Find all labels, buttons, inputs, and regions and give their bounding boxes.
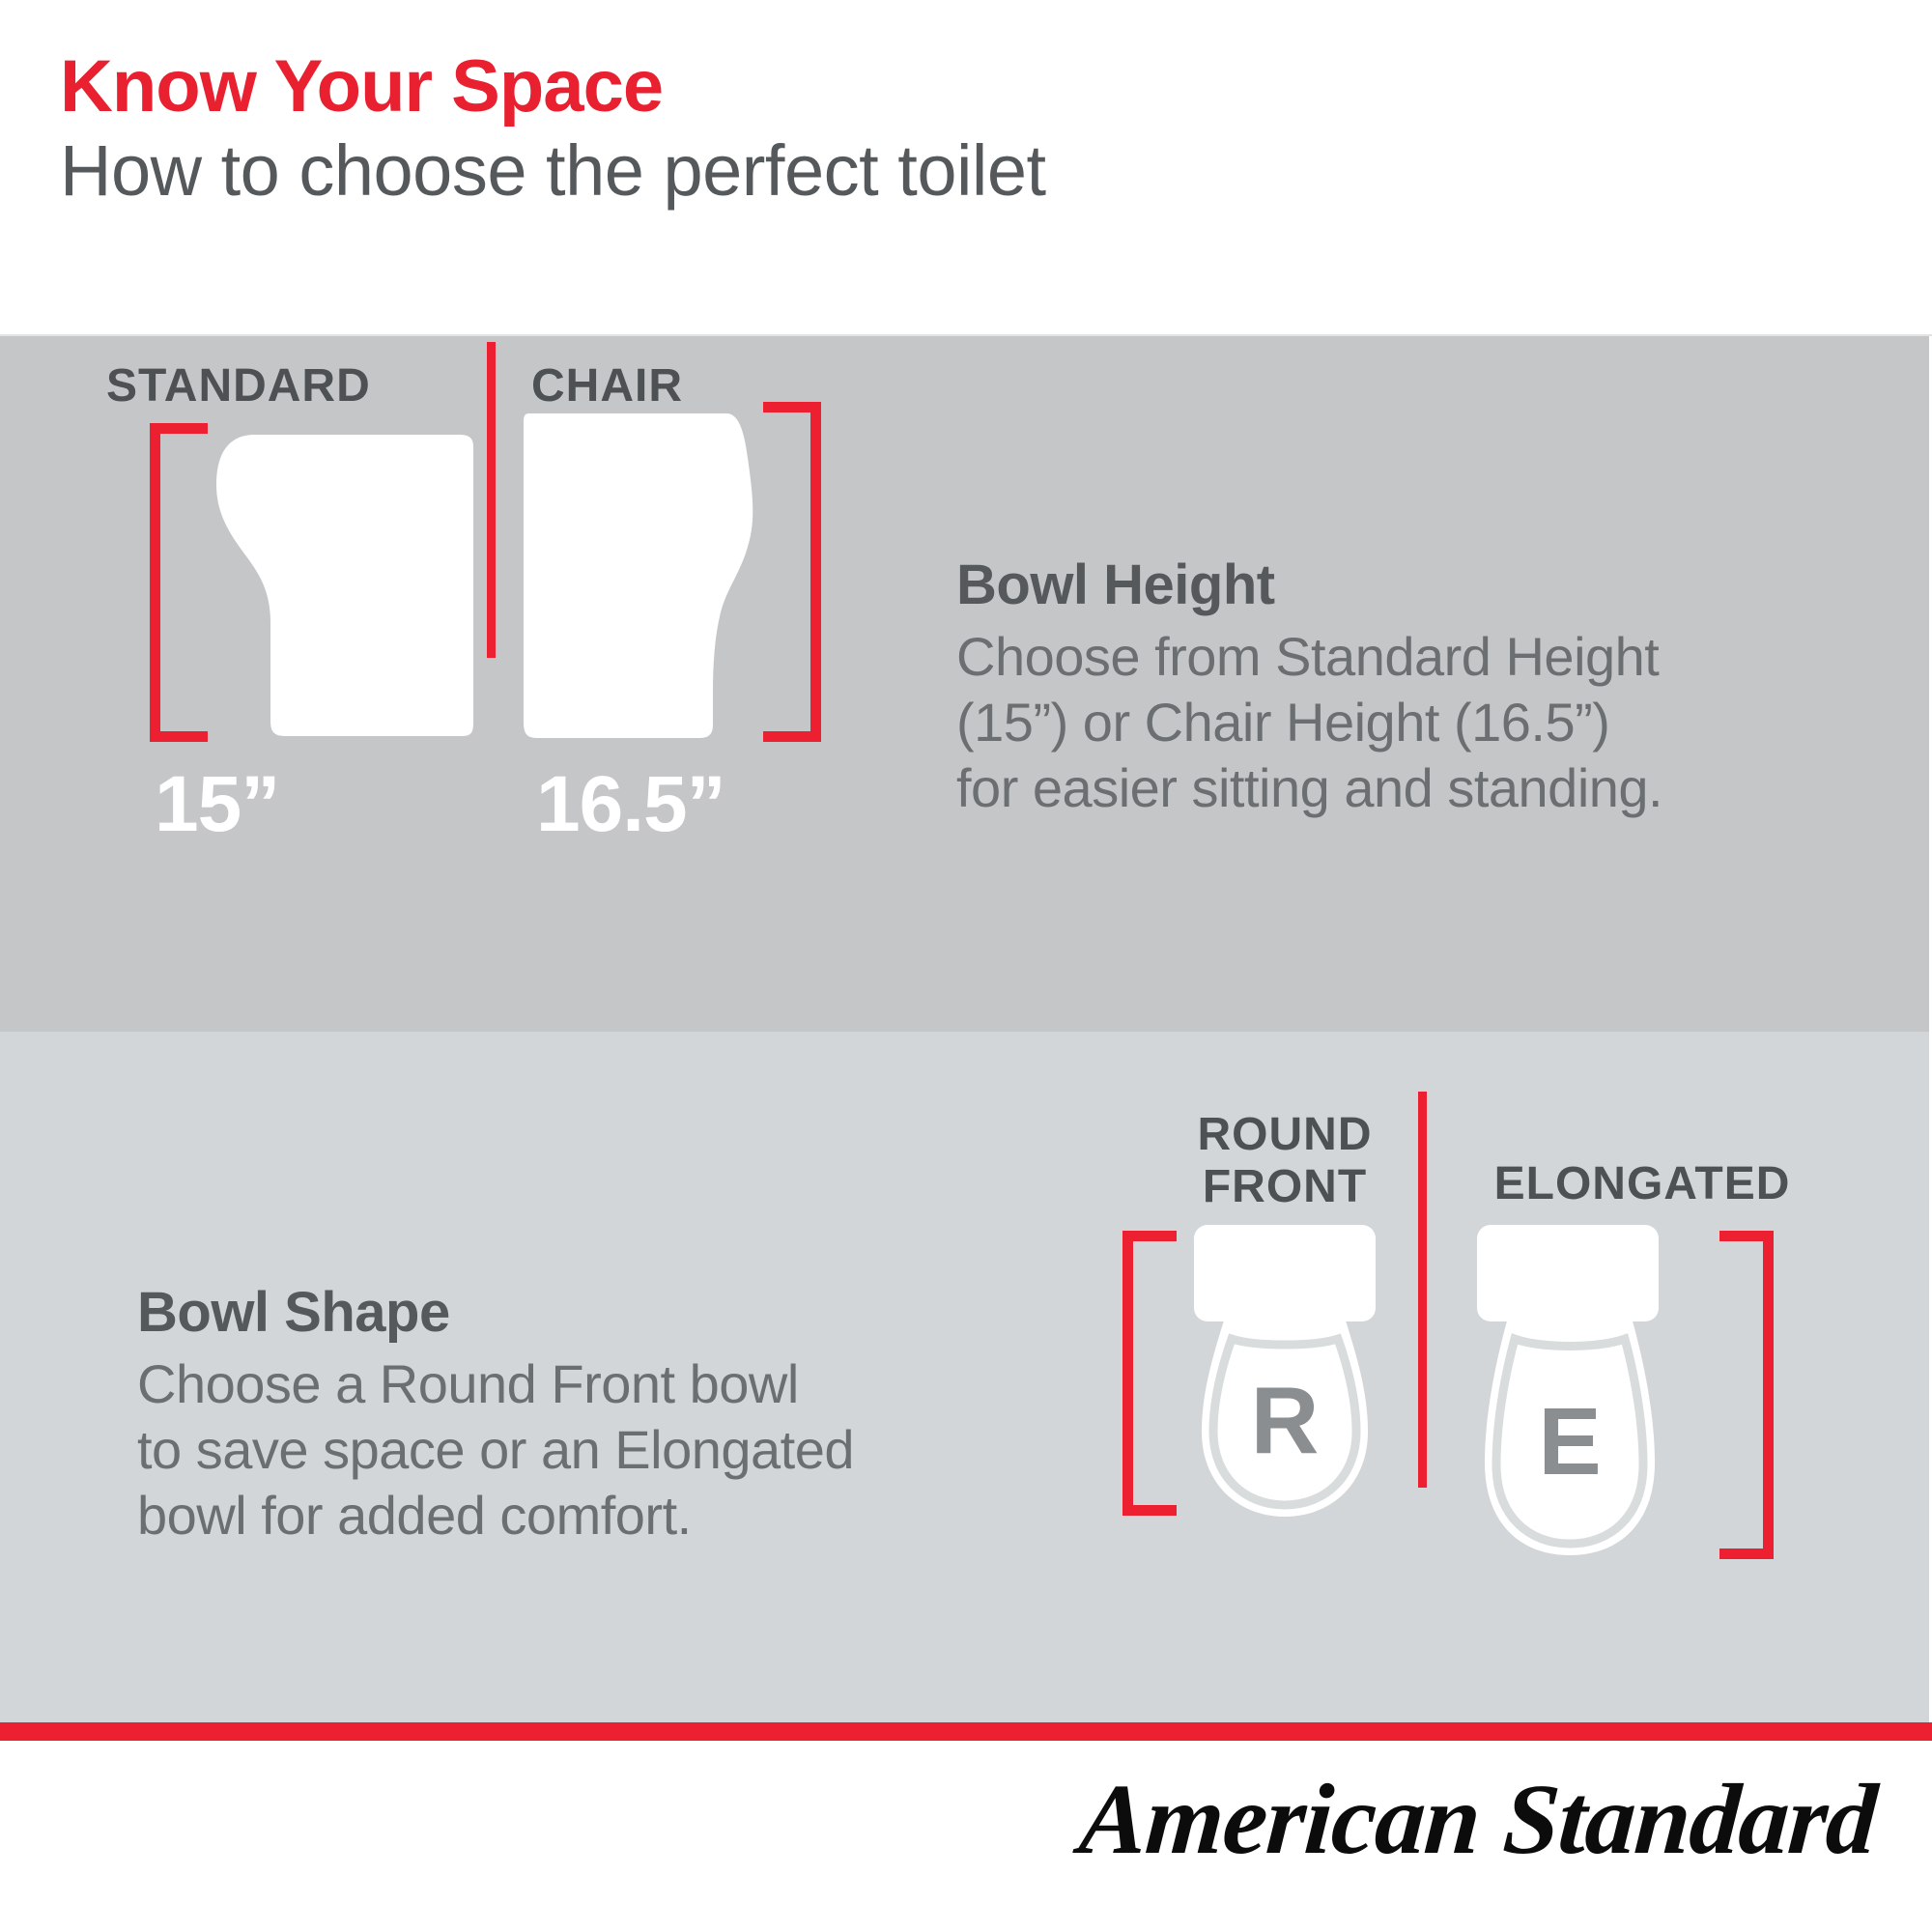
- bowl-height-heading: Bowl Height: [956, 554, 1826, 618]
- round-front-label-line-1: ROUND: [1174, 1109, 1396, 1161]
- chair-height-bracket-icon: [763, 402, 821, 742]
- bowl-shape-line-1: Choose a Round Front bowl: [137, 1351, 1007, 1417]
- chair-height-value: 16.5”: [536, 759, 725, 850]
- vertical-divider-icon: [487, 342, 496, 658]
- bowl-height-line-2: (15”) or Chair Height (16.5”): [956, 690, 1826, 755]
- page-title: Know Your Space: [60, 50, 663, 124]
- bowl-height-copy-block: Bowl Height Choose from Standard Height …: [956, 554, 1826, 822]
- american-standard-logo: American Standard: [1076, 1762, 1880, 1877]
- chair-toilet-side-illustration: [520, 404, 769, 744]
- round-front-bracket-icon: [1122, 1231, 1177, 1516]
- footer: American Standard: [0, 1741, 1932, 1932]
- page-subtitle: How to choose the perfect toilet: [60, 135, 1046, 207]
- round-front-label-line-2: FRONT: [1174, 1161, 1396, 1213]
- footer-accent-bar: [0, 1722, 1932, 1741]
- bowl-shape-section: ROUND FRONT ELONGATED R E Bowl Shape Cho…: [0, 1032, 1932, 1722]
- standard-height-label: STANDARD: [106, 359, 371, 412]
- round-front-bowl-illustration: R: [1188, 1225, 1381, 1524]
- bowl-shape-copy-block: Bowl Shape Choose a Round Front bowl to …: [137, 1281, 1007, 1549]
- bowl-shape-line-3: bowl for added comfort.: [137, 1483, 1007, 1548]
- vertical-divider-icon: [1418, 1092, 1427, 1488]
- standard-height-bracket-icon: [150, 423, 208, 742]
- elongated-label: ELONGATED: [1449, 1157, 1835, 1210]
- round-front-label: ROUND FRONT: [1174, 1109, 1396, 1213]
- bowl-height-section: STANDARD CHAIR 15” 16.5” Bowl Height Cho…: [0, 336, 1932, 1032]
- infographic-page: Know Your Space How to choose the perfec…: [0, 0, 1932, 1932]
- header-banner: Know Your Space How to choose the perfec…: [0, 0, 1932, 336]
- elongated-bracket-icon: [1719, 1231, 1774, 1559]
- elongated-bowl-letter: E: [1538, 1388, 1601, 1494]
- bowl-shape-heading: Bowl Shape: [137, 1281, 1007, 1346]
- bowl-height-line-1: Choose from Standard Height: [956, 624, 1826, 690]
- round-front-bowl-letter: R: [1251, 1367, 1320, 1473]
- standard-toilet-side-illustration: [214, 425, 475, 744]
- bowl-height-line-3: for easier sitting and standing.: [956, 755, 1826, 821]
- bowl-shape-line-2: to save space or an Elongated: [137, 1417, 1007, 1483]
- standard-height-value: 15”: [155, 759, 279, 850]
- elongated-bowl-illustration: E: [1473, 1225, 1666, 1563]
